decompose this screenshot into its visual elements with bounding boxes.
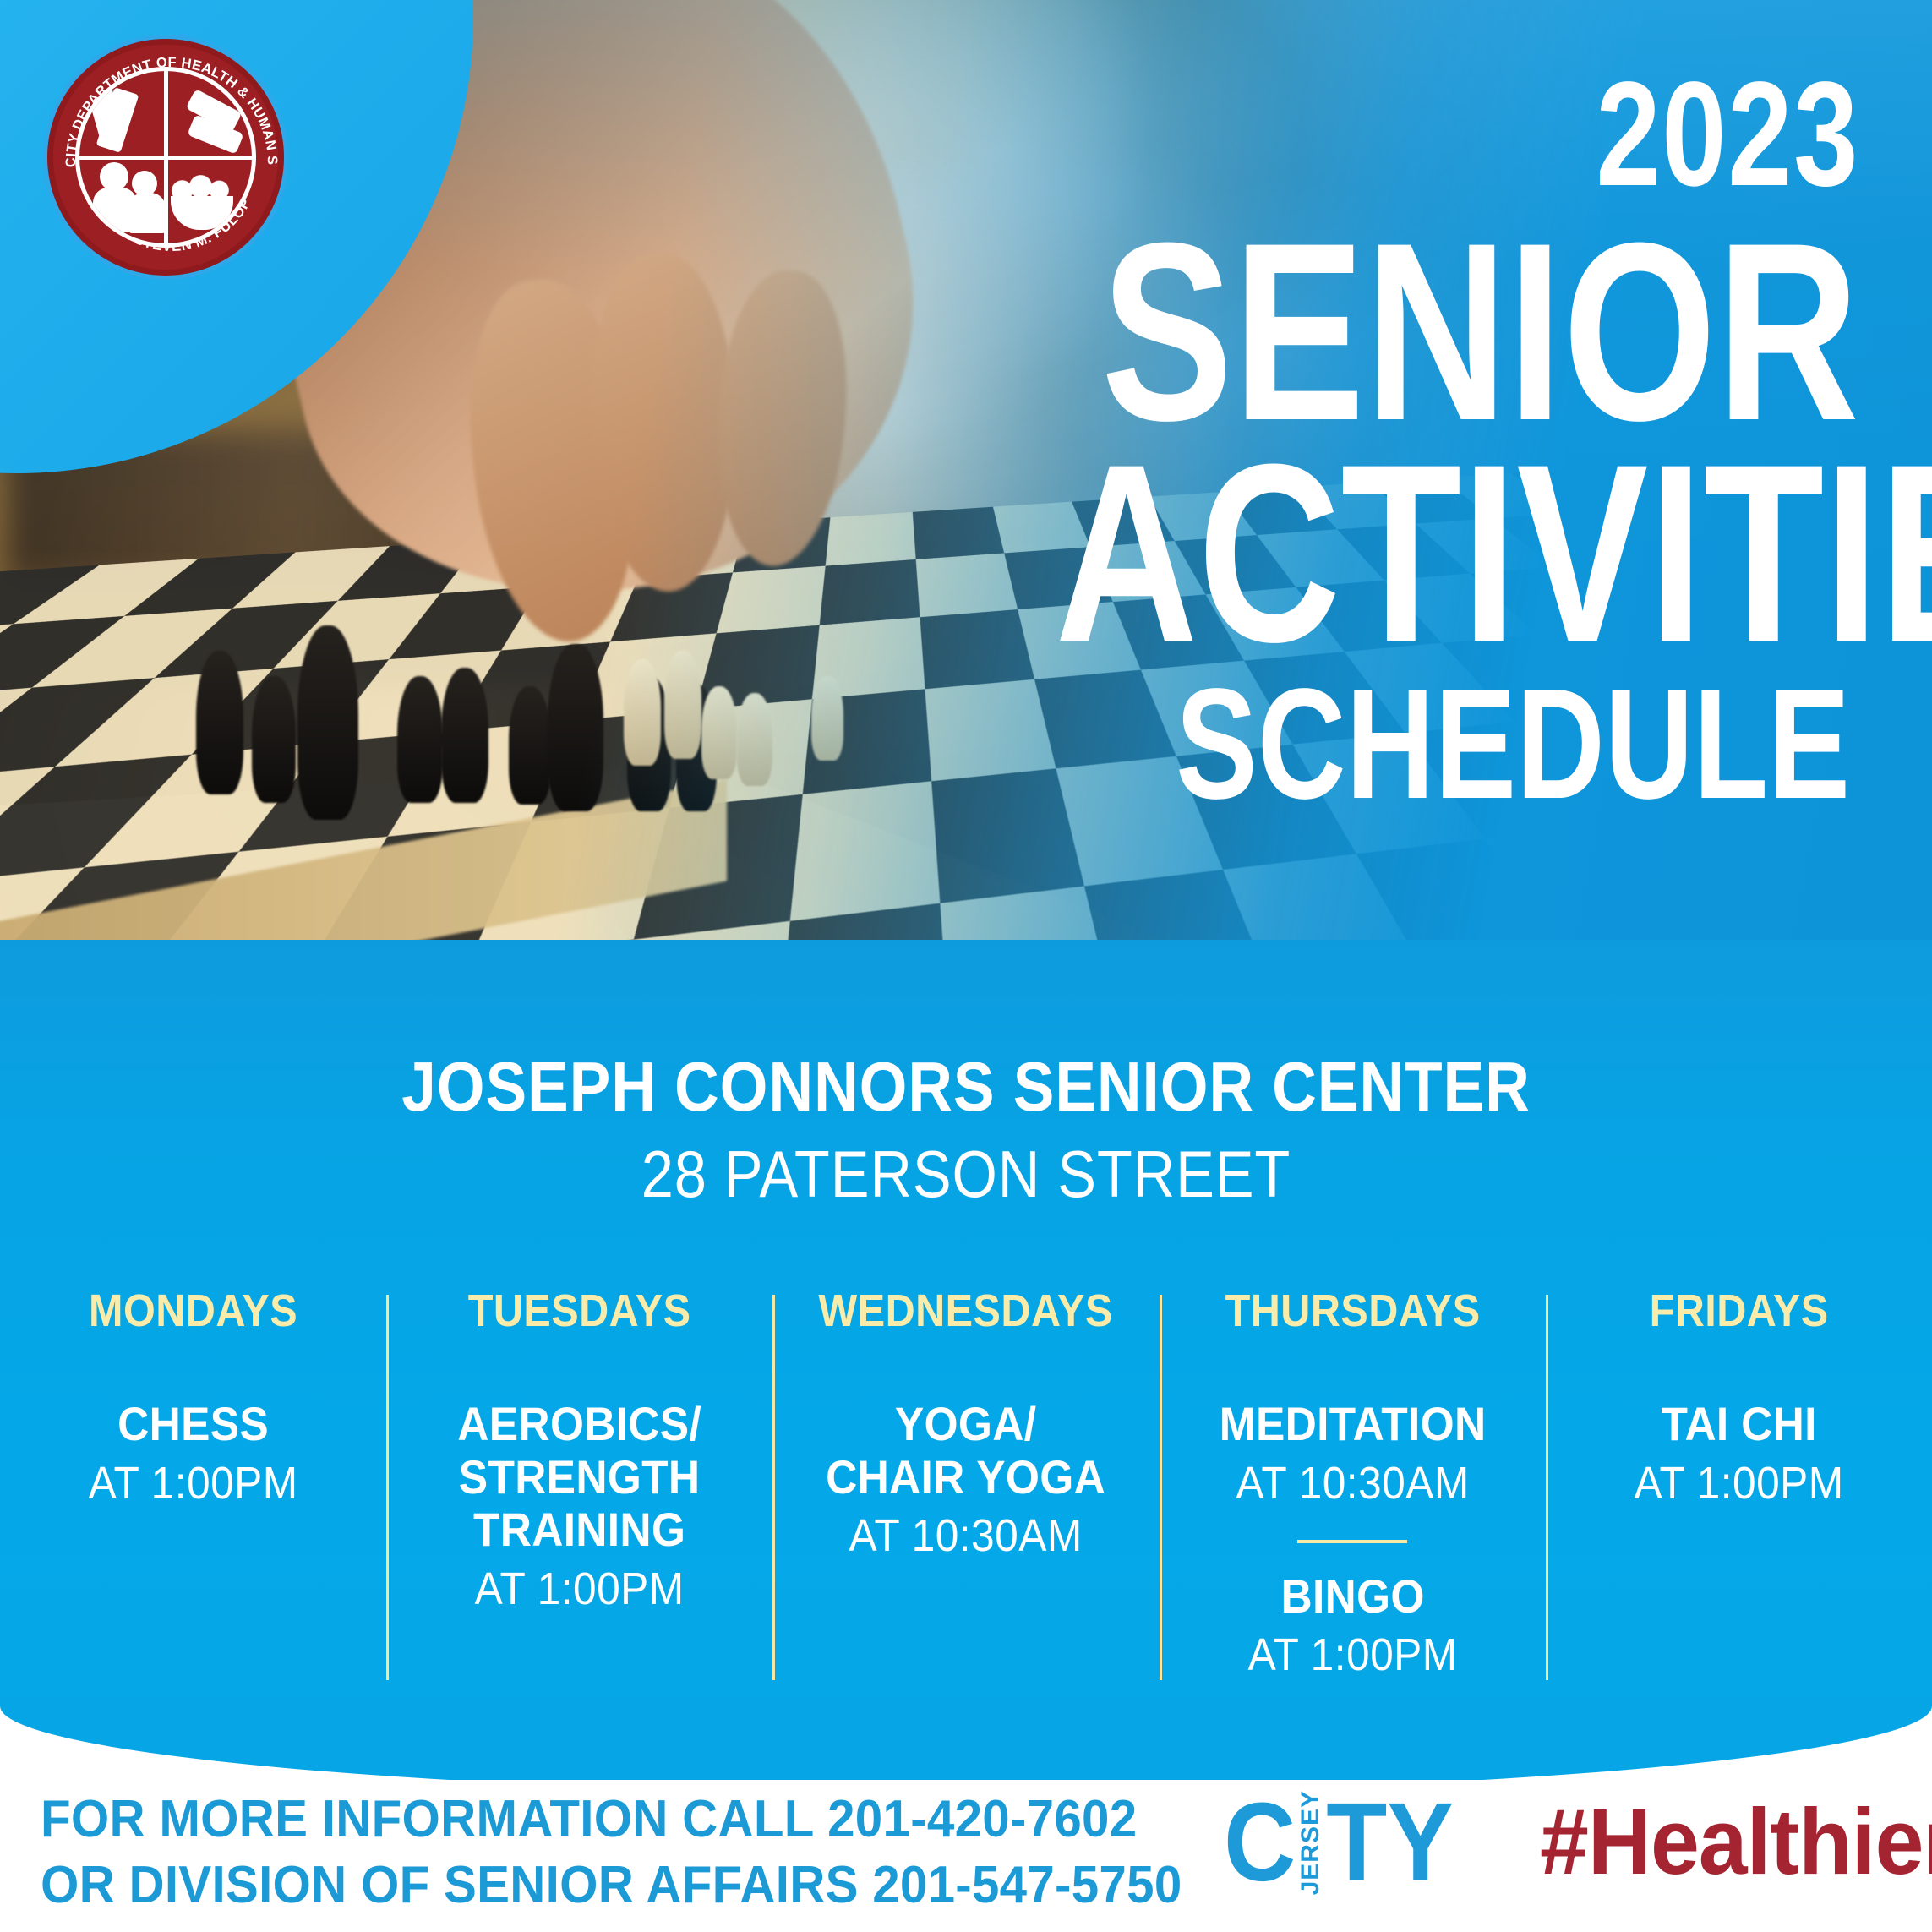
title-line-schedule: SCHEDULE xyxy=(1055,677,1859,812)
title-line-activities: ACTIVITIES xyxy=(1055,444,1859,662)
activity-time: AT 1:00PM xyxy=(412,1562,746,1617)
activity-name: BINGO xyxy=(1186,1570,1520,1624)
schedule-column-fridays: FRIDAYS TAI CHI AT 1:00PM xyxy=(1546,1285,1932,1707)
schedule-slot: CHESS AT 1:00PM xyxy=(12,1398,374,1511)
schedule-slot: AEROBICS/STRENGTHTRAINING AT 1:00PM xyxy=(398,1398,761,1617)
schedule-column-mondays: MONDAYS CHESS AT 1:00PM xyxy=(0,1285,386,1707)
poster-footer: FOR MORE INFORMATION CALL 201-420-7602 O… xyxy=(0,1780,1932,1932)
venue-name: JOSEPH CONNORS SENIOR CENTER xyxy=(116,1046,1816,1127)
title-line-senior: SENIOR xyxy=(1055,222,1859,440)
food-basket-icon xyxy=(171,196,233,230)
contact-line-2: OR DIVISION OF SENIOR AFFAIRS 201-547-57… xyxy=(41,1853,1182,1918)
family-figure-icon xyxy=(128,193,166,233)
activity-time: AT 1:00PM xyxy=(1186,1628,1520,1683)
activity-time: AT 1:00PM xyxy=(1572,1456,1906,1511)
family-figure-icon xyxy=(100,162,128,191)
day-header-thursdays: THURSDAYS xyxy=(1189,1285,1515,1337)
awareness-ribbon-icon xyxy=(96,87,139,153)
healthier-jc-hashtag: #HealthierJC xyxy=(1540,1796,1932,1889)
activity-time: AT 10:30AM xyxy=(800,1509,1133,1564)
jersey-city-logo-jersey: JERSEY xyxy=(1298,1790,1323,1895)
activity-time: AT 10:30AM xyxy=(1186,1456,1520,1511)
schedule-slot: MEDITATION AT 10:30AM xyxy=(1171,1398,1534,1511)
jersey-city-health-seal-icon: JERSEY CITY DEPARTMENT OF HEALTH & HUMAN… xyxy=(47,39,284,276)
jersey-city-logo-c: C xyxy=(1224,1787,1296,1898)
seal-inner-ring xyxy=(75,67,256,248)
contact-info: FOR MORE INFORMATION CALL 201-420-7602 O… xyxy=(41,1787,1255,1918)
poster-canvas: JERSEY CITY DEPARTMENT OF HEALTH & HUMAN… xyxy=(0,0,1932,1932)
schedule-slot: TAI CHI AT 1:00PM xyxy=(1558,1398,1920,1511)
activity-name: CHESS xyxy=(26,1398,360,1451)
activity-name: TAI CHI xyxy=(1572,1398,1906,1451)
venue-block: JOSEPH CONNORS SENIOR CENTER 28 PATERSON… xyxy=(0,1046,1932,1213)
day-header-fridays: FRIDAYS xyxy=(1575,1285,1902,1337)
activity-time: AT 1:00PM xyxy=(26,1456,360,1511)
schedule-column-wednesdays: WEDNESDAYS YOGA/CHAIR YOGA AT 10:30AM xyxy=(772,1285,1159,1707)
day-header-tuesdays: TUESDAYS xyxy=(417,1285,743,1337)
weekly-schedule-grid: MONDAYS CHESS AT 1:00PM TUESDAYS AEROBIC… xyxy=(0,1285,1932,1707)
schedule-slot: YOGA/CHAIR YOGA AT 10:30AM xyxy=(784,1398,1147,1564)
day-header-wednesdays: WEDNESDAYS xyxy=(803,1285,1129,1337)
jersey-city-logo-ty: TY xyxy=(1326,1787,1454,1898)
schedule-slot: BINGO AT 1:00PM xyxy=(1171,1570,1534,1684)
seal-divider-horizontal xyxy=(79,156,252,160)
day-header-mondays: MONDAYS xyxy=(30,1285,356,1337)
schedule-column-thursdays: THURSDAYS MEDITATION AT 10:30AM BINGO AT… xyxy=(1160,1285,1546,1707)
title-year: 2023 xyxy=(1055,71,1859,199)
activity-name: YOGA/CHAIR YOGA xyxy=(800,1398,1133,1504)
poster-title: 2023 SENIOR ACTIVITIES SCHEDULE xyxy=(828,71,1859,812)
schedule-column-tuesdays: TUESDAYS AEROBICS/STRENGTHTRAINING AT 1:… xyxy=(386,1285,772,1707)
activity-name: AEROBICS/STRENGTHTRAINING xyxy=(412,1398,746,1557)
activity-name: MEDITATION xyxy=(1186,1398,1520,1451)
jersey-city-logo: C JERSEY TY xyxy=(1224,1792,1454,1893)
slot-separator-rule xyxy=(1297,1540,1407,1543)
contact-line-1: FOR MORE INFORMATION CALL 201-420-7602 xyxy=(41,1787,1182,1853)
food-basket-icon xyxy=(169,171,235,199)
venue-address: 28 PATERSON STREET xyxy=(116,1136,1816,1213)
